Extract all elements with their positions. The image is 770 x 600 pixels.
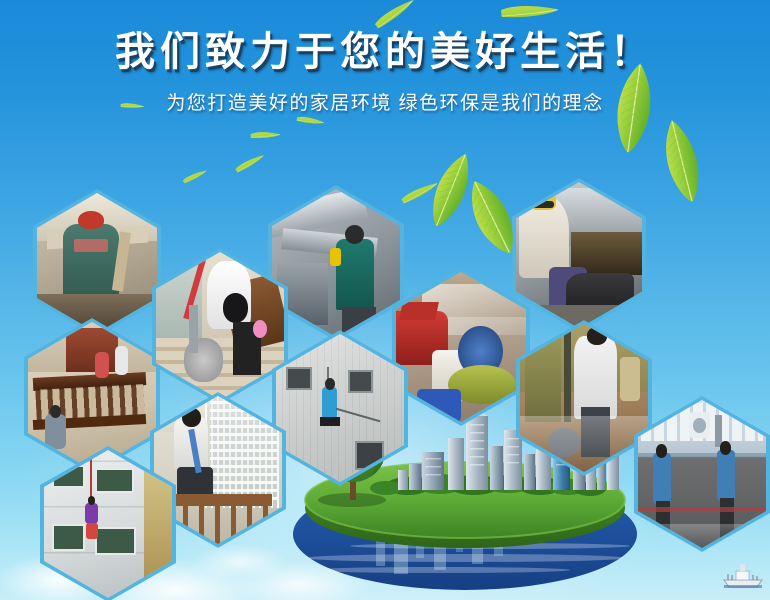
photo-alt-text [268, 185, 269, 186]
photo-alt-text [512, 178, 513, 179]
hex-tile-facade-wall [272, 330, 408, 486]
hex-tile-kitchen-hood [512, 178, 646, 332]
hex-tile-demolition-worker [33, 189, 161, 337]
photo-alt-text [33, 189, 34, 190]
headline-block: 我们致力于您的美好生活！ 为您打造美好的家居环境 绿色环保是我们的理念 [0, 30, 770, 115]
hex-tile-stair-mopping [152, 248, 288, 404]
page-title: 我们致力于您的美好生活！ [115, 30, 655, 74]
promo-banner: 我们致力于您的美好生活！ 为您打造美好的家居环境 绿色环保是我们的理念 [0, 0, 770, 600]
hex-tile-handrail-painting [24, 318, 160, 474]
hex-tile-carpet-machine [392, 268, 530, 426]
hex-tile-floor-polishing [516, 320, 652, 476]
photo-alt-text [40, 446, 41, 447]
hex-tile-roof-wash [634, 396, 770, 552]
photo-alt-text [24, 318, 25, 319]
hex-tile-duct-cleaning [268, 185, 404, 341]
page-subtitle: 为您打造美好的家居环境 绿色环保是我们的理念 [166, 88, 603, 115]
